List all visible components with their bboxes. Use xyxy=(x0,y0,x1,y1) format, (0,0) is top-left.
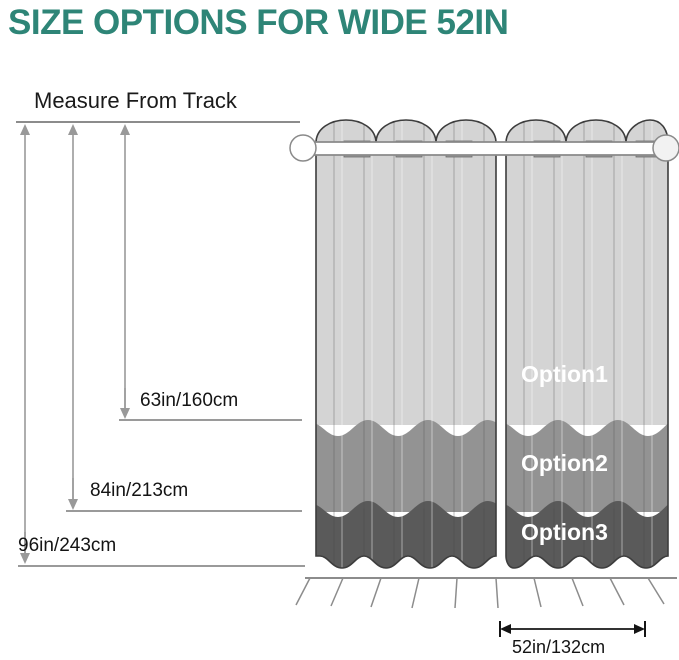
panel-left-option3-band xyxy=(310,501,506,575)
measure-arrow-option2 xyxy=(68,124,78,505)
curtain-panel-left xyxy=(310,115,506,575)
curtain-panel-right xyxy=(500,115,675,575)
diagram-graphics xyxy=(0,0,679,660)
dimension-label-option3: 96in/243cm xyxy=(18,535,116,557)
dim-arrow-63 xyxy=(120,388,130,419)
curtain-option3-label: Option3 xyxy=(521,519,608,545)
curtain-option2-label: Option2 xyxy=(521,450,608,476)
panel-left-option2-band xyxy=(310,420,506,512)
measure-arrow-option1 xyxy=(120,124,130,414)
width-dimension-52in xyxy=(500,621,645,637)
rod-finial-right xyxy=(653,135,679,161)
dimension-label-width: 52in/132cm xyxy=(512,636,605,658)
curtain-option1-label: Option1 xyxy=(521,361,608,387)
dim-arrow-84 xyxy=(68,478,78,510)
dimension-label-option2: 84in/213cm xyxy=(90,480,188,502)
dimension-label-option1: 63in/160cm xyxy=(140,390,238,412)
rod-finial-left xyxy=(290,135,316,161)
panel-left-option1-band xyxy=(310,115,505,425)
size-options-diagram: SIZE OPTIONS FOR WIDE 52IN Measure From … xyxy=(0,0,679,660)
floor-hatching xyxy=(296,578,664,608)
measure-arrow-option3 xyxy=(20,124,30,560)
